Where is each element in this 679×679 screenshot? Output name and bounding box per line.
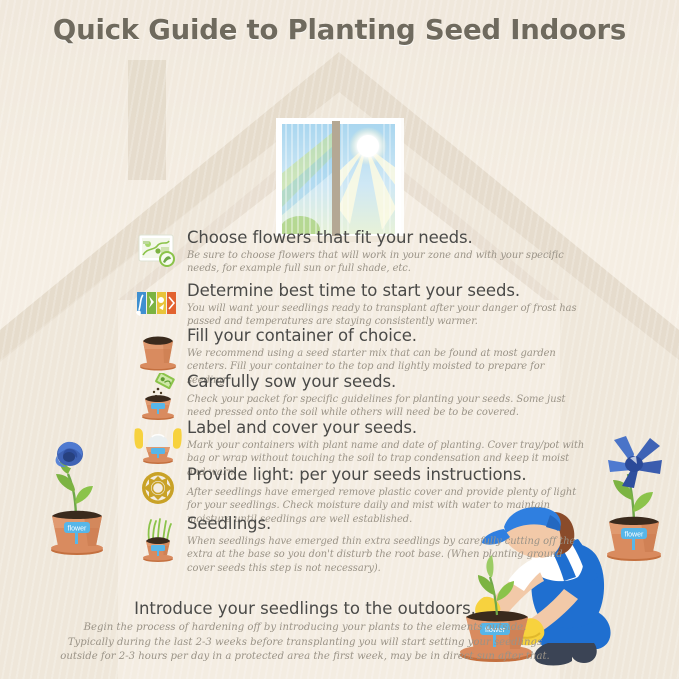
page-title: Quick Guide to Planting Seed Indoors xyxy=(0,14,679,46)
seasons-calendar-icon xyxy=(134,282,182,330)
seed-catalog-icon xyxy=(134,229,182,277)
step-heading: Seedlings. xyxy=(187,515,586,534)
infographic-canvas: flower flower xyxy=(0,0,679,679)
covered-pot-gloves-icon xyxy=(134,419,182,467)
closing-heading: Introduce your seedlings to the outdoors… xyxy=(60,600,550,619)
step-item: Seedlings. When seedlings have emerged t… xyxy=(134,515,586,561)
step-item: Fill your container of choice. We recomm… xyxy=(134,327,586,372)
step-heading: Carefully sow your seeds. xyxy=(187,373,586,392)
step-description: When seedlings have emerged thin extra s… xyxy=(187,535,586,576)
sunny-window-illustration xyxy=(272,112,408,242)
step-item: Determine best time to start your seeds.… xyxy=(134,282,586,326)
step-heading: Choose flowers that fit your needs. xyxy=(187,229,586,248)
closing-description: Begin the process of hardening off by in… xyxy=(60,621,550,665)
page-title-text: Quick Guide to Planting Seed Indoors xyxy=(53,14,626,46)
step-item: Provide light: per your seeds instructio… xyxy=(134,466,586,514)
step-heading: Determine best time to start your seeds. xyxy=(187,282,586,301)
svg-text:flower: flower xyxy=(68,526,87,533)
step-description: Check your packet for specific guideline… xyxy=(187,393,586,420)
filled-pot-icon xyxy=(134,327,182,375)
step-heading: Label and cover your seeds. xyxy=(187,419,586,438)
step-description: You will want your seedlings ready to tr… xyxy=(187,302,586,329)
sun-light-icon xyxy=(134,466,182,514)
seedlings-pot-icon xyxy=(134,515,182,563)
step-heading: Fill your container of choice. xyxy=(187,327,586,346)
step-item: Carefully sow your seeds. Check your pac… xyxy=(134,373,586,418)
step-item: Label and cover your seeds. Mark your co… xyxy=(134,419,586,465)
blue-rose-pot-illustration: flower xyxy=(38,416,116,556)
sowing-seeds-icon xyxy=(134,373,182,421)
step-description: Be sure to choose flowers that will work… xyxy=(187,249,586,276)
steps-list: Choose flowers that fit your needs. Be s… xyxy=(134,229,586,562)
step-item: Choose flowers that fit your needs. Be s… xyxy=(134,229,586,281)
closing-section: Introduce your seedlings to the outdoors… xyxy=(60,600,550,665)
step-heading: Provide light: per your seeds instructio… xyxy=(187,466,586,485)
